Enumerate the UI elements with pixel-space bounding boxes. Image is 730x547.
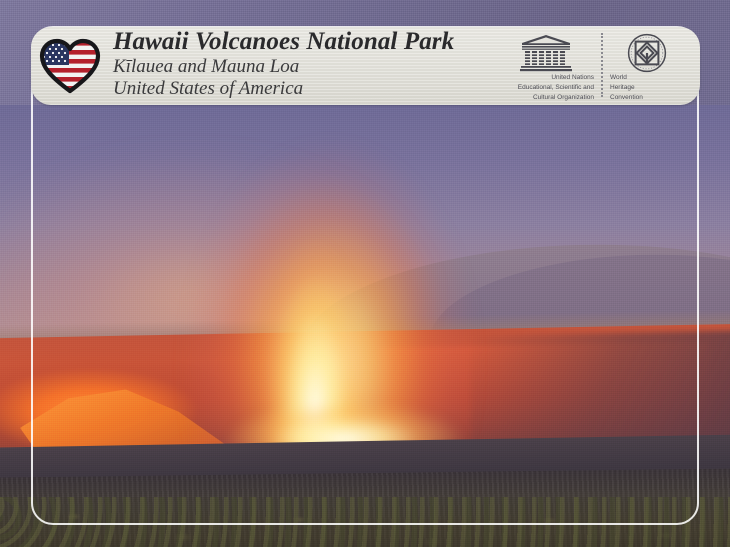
world-heritage-column: World Heritage Convention [610, 33, 684, 103]
park-titles: Hawaii Volcanoes National Park Kīlauea a… [113, 29, 454, 102]
world-heritage-line-1: World [610, 73, 684, 83]
world-heritage-line-3: Convention [610, 93, 684, 103]
world-heritage-emblem [627, 33, 667, 73]
page-title: Hawaii Volcanoes National Park [113, 29, 454, 56]
unesco-organization-column: United Nations Educational, Scientific a… [498, 33, 594, 103]
heart-us-flag-icon [39, 37, 101, 95]
dotted-divider [601, 33, 603, 97]
unesco-caption-line-1: United Nations [498, 73, 594, 83]
world-heritage-line-2: Heritage [610, 83, 684, 93]
unesco-caption-line-2: Educational, Scientific and [498, 83, 594, 93]
unesco-caption-line-3: Cultural Organization [498, 93, 594, 103]
unesco-block: United Nations Educational, Scientific a… [498, 29, 684, 103]
unesco-temple-logo [520, 33, 572, 73]
foreground-vegetation [0, 497, 730, 547]
volcano-photograph [0, 105, 730, 547]
postcard: Hawaii Volcanoes National Park Kīlauea a… [0, 0, 730, 547]
park-subtitle-country: United States of America [113, 78, 454, 100]
park-subtitle-volcanoes: Kīlauea and Mauna Loa [113, 56, 454, 78]
title-banner: Hawaii Volcanoes National Park Kīlauea a… [31, 27, 700, 105]
